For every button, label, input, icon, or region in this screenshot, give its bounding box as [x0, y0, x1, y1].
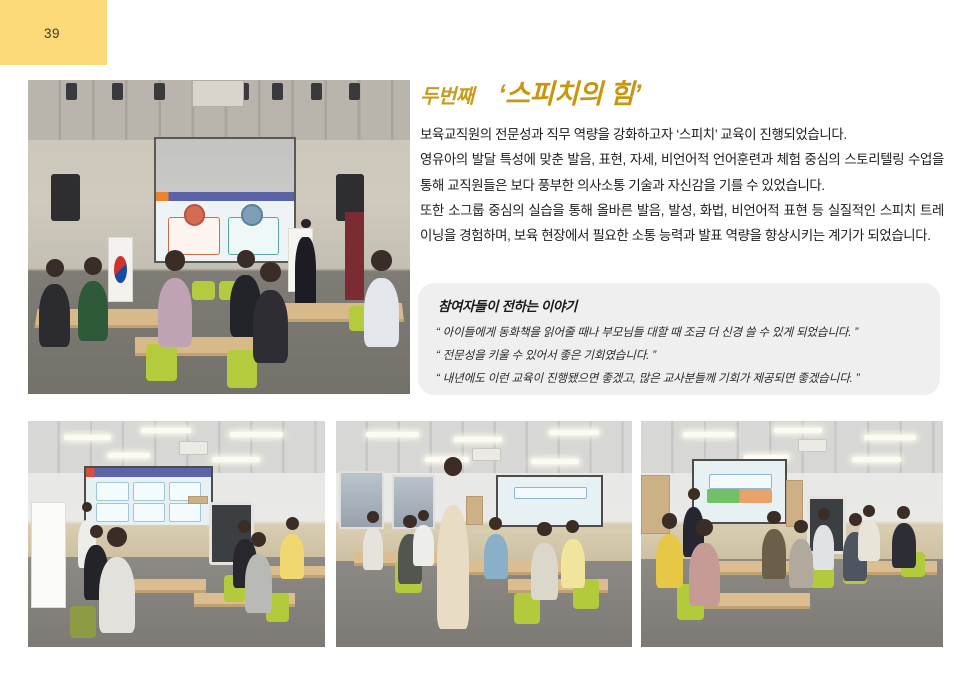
slide-cell	[96, 503, 128, 522]
attendee-person	[364, 278, 398, 347]
wall-shelf	[188, 496, 208, 505]
ceiling-light	[230, 432, 283, 437]
ceiling-projector	[472, 448, 501, 461]
attendee-person	[413, 525, 434, 566]
attendee-person	[245, 554, 272, 613]
ceiling-projector	[179, 441, 208, 454]
page-number: 39	[44, 26, 60, 41]
section-headline: 두번째 ‘스피치의 힘’	[420, 72, 940, 114]
quotes-list: “ 아이들에게 동화책을 읽어줄 때나 부모님들 대할 때 조금 더 신경 쓸 …	[436, 321, 926, 390]
attendee-person	[561, 539, 585, 589]
attendee-person	[892, 523, 916, 568]
ceiling-spotlight-icon	[311, 83, 322, 100]
attendee-person	[39, 284, 70, 347]
ceiling-light	[549, 430, 599, 435]
page-number-badge: 39	[0, 0, 107, 65]
ceiling-light	[683, 432, 734, 437]
ceiling-light	[531, 459, 578, 464]
slide-box	[514, 487, 586, 499]
ceiling-light	[141, 428, 191, 433]
ceiling-spotlight-icon	[154, 83, 165, 100]
attendee-person	[858, 520, 879, 561]
attendee-person	[656, 534, 683, 588]
headline-title: ‘스피치의 힘’	[498, 79, 641, 109]
quote-item: “ 전문성을 키울 수 있어서 좋은 기회였습니다. ”	[436, 344, 926, 367]
ceiling-spotlight-icon	[112, 83, 123, 100]
attendee-person	[813, 525, 834, 570]
attendee-person	[253, 290, 287, 362]
attendee-person	[280, 534, 304, 579]
slide-cell	[133, 503, 165, 522]
slide-box	[709, 474, 773, 489]
ceiling-spotlight-icon	[66, 83, 77, 100]
slide-avatar-left	[184, 204, 206, 226]
ceiling-spotlight-icon	[272, 83, 283, 100]
slide-cell	[169, 503, 201, 522]
body-paragraph-3: 또한 소그룹 중심의 실습을 통해 올바른 발음, 발성, 화법, 비언어적 표…	[420, 198, 944, 249]
wall-speaker	[51, 174, 80, 221]
ceiling-projector	[192, 80, 244, 107]
wall-shelf	[466, 496, 483, 525]
green-chair	[192, 281, 215, 300]
attendee-person	[689, 543, 719, 606]
photo-strip	[28, 421, 943, 647]
ceiling-light	[64, 435, 112, 440]
body-paragraph-1: 보육교직원의 전문성과 직무 역량을 강화하고자 ‘스피치’ 교육이 진행되었습…	[420, 122, 944, 147]
ceiling-light	[454, 437, 501, 442]
attendee-person	[762, 529, 786, 579]
quotes-card-title: 참여자들이 전하는 이야기	[438, 295, 577, 315]
projection-screen	[496, 475, 604, 526]
hero-photo-scene	[28, 80, 410, 394]
green-chair	[146, 344, 177, 382]
attendee-person	[158, 278, 192, 347]
attendee-person	[363, 527, 384, 570]
strip-photo-1	[28, 421, 325, 647]
participant-quotes-card: 참여자들이 전하는 이야기 “ 아이들에게 동화책을 읽어줄 때나 부모님들 대…	[418, 283, 940, 395]
standing-presenter-person	[437, 505, 470, 629]
quote-item: “ 내년에도 이런 교육이 진행됐으면 좋겠고, 많은 교사분들께 기회가 제공…	[436, 367, 926, 390]
ceiling-light	[852, 457, 900, 462]
ceiling-spotlight-icon	[349, 83, 360, 100]
slide-content-grid	[96, 482, 201, 522]
attendee-person	[484, 534, 508, 579]
slide-title-bar	[156, 192, 294, 201]
slide-comparison-bars	[707, 489, 772, 502]
korean-flag	[108, 237, 133, 302]
ceiling-projector	[798, 439, 827, 452]
attendee-person	[99, 557, 135, 634]
ceiling-light	[212, 457, 260, 462]
attendee-person	[531, 543, 558, 600]
strip-photo-2-scene	[336, 421, 632, 647]
strip-photo-1-scene	[28, 421, 325, 647]
strip-photo-3-scene	[641, 421, 943, 647]
slide-title-bar	[86, 468, 211, 477]
hall-door	[345, 212, 364, 300]
strip-photo-2	[336, 421, 632, 647]
slide-cell	[96, 482, 128, 501]
quote-item: “ 아이들에게 동화책을 읽어줄 때나 부모님들 대할 때 조금 더 신경 쓸 …	[436, 321, 926, 344]
hero-photo	[28, 80, 410, 394]
projection-screen	[154, 137, 296, 263]
ceiling-light	[366, 432, 419, 437]
slide-cell	[133, 482, 165, 501]
body-copy: 보육교직원의 전문성과 직무 역량을 강화하고자 ‘스피치’ 교육이 진행되었습…	[420, 122, 944, 248]
strip-photo-3	[641, 421, 943, 647]
headline-kicker: 두번째	[420, 86, 474, 108]
standing-banner	[31, 502, 66, 608]
attendee-person	[789, 539, 813, 589]
ceiling	[336, 421, 632, 473]
ceiling-light	[108, 453, 150, 458]
attendee-person	[78, 281, 109, 341]
green-chair	[70, 606, 97, 638]
body-paragraph-2: 영유아의 발달 특성에 맞춘 발음, 표현, 자세, 비언어적 언어훈련과 체험…	[420, 147, 944, 198]
ceiling-light	[864, 435, 915, 440]
slide-avatar-right	[241, 204, 263, 226]
ceiling-light	[774, 428, 822, 433]
